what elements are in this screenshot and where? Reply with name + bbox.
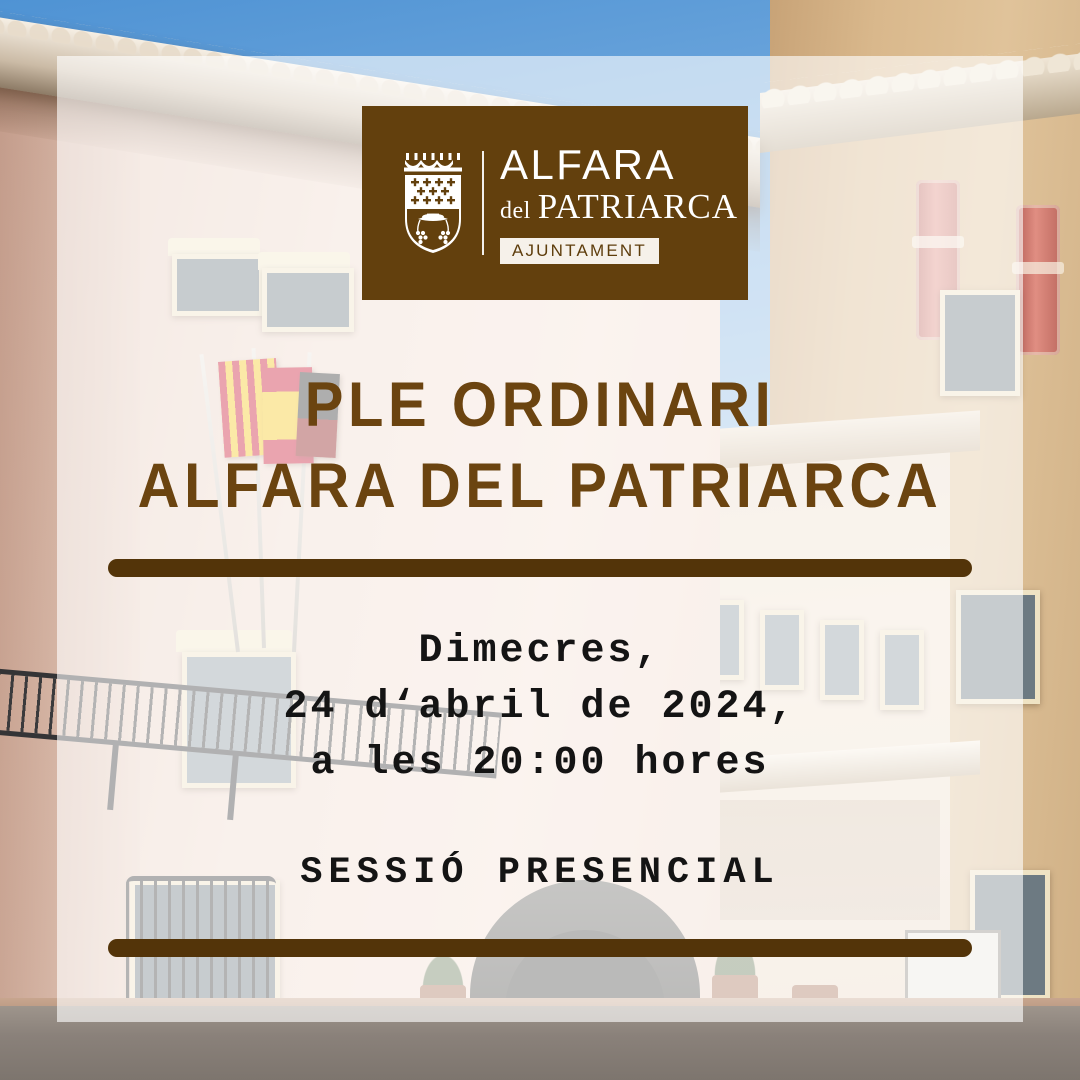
logo-del-word: del — [500, 191, 531, 231]
divider-rule-bottom — [108, 939, 972, 957]
ajuntament-logo[interactable]: ALFARA del PATRIARCA AJUNTAMENT — [362, 106, 748, 300]
title-line-1: PLE ORDINARI — [43, 365, 1037, 446]
logo-line-patriarca: del PATRIARCA — [500, 187, 738, 231]
session-mode-label: SESSIÓ PRESENCIAL — [0, 852, 1080, 894]
poster-canvas: ALFARA del PATRIARCA AJUNTAMENT PLE ORDI… — [0, 0, 1080, 1080]
event-day: Dimecres, — [0, 624, 1080, 680]
poster-content: ALFARA del PATRIARCA AJUNTAMENT PLE ORDI… — [0, 0, 1080, 1080]
divider-rule-top — [108, 559, 972, 577]
logo-line-alfara: ALFARA — [500, 143, 676, 187]
coat-of-arms-shield-icon — [402, 151, 464, 255]
logo-divider — [482, 151, 484, 255]
event-time: a les 20:00 hores — [0, 736, 1080, 792]
title-line-2: ALFARA DEL PATRIARCA — [43, 446, 1037, 527]
event-details: Dimecres, 24 d‘abril de 2024, a les 20:0… — [0, 624, 1080, 792]
event-date: 24 d‘abril de 2024, — [0, 680, 1080, 736]
logo-ajuntament-badge: AJUNTAMENT — [500, 238, 659, 264]
page-title: PLE ORDINARI ALFARA DEL PATRIARCA — [43, 365, 1037, 527]
logo-wordmark: ALFARA del PATRIARCA AJUNTAMENT — [500, 143, 738, 264]
logo-patriarca-word: PATRIARCA — [538, 187, 738, 227]
